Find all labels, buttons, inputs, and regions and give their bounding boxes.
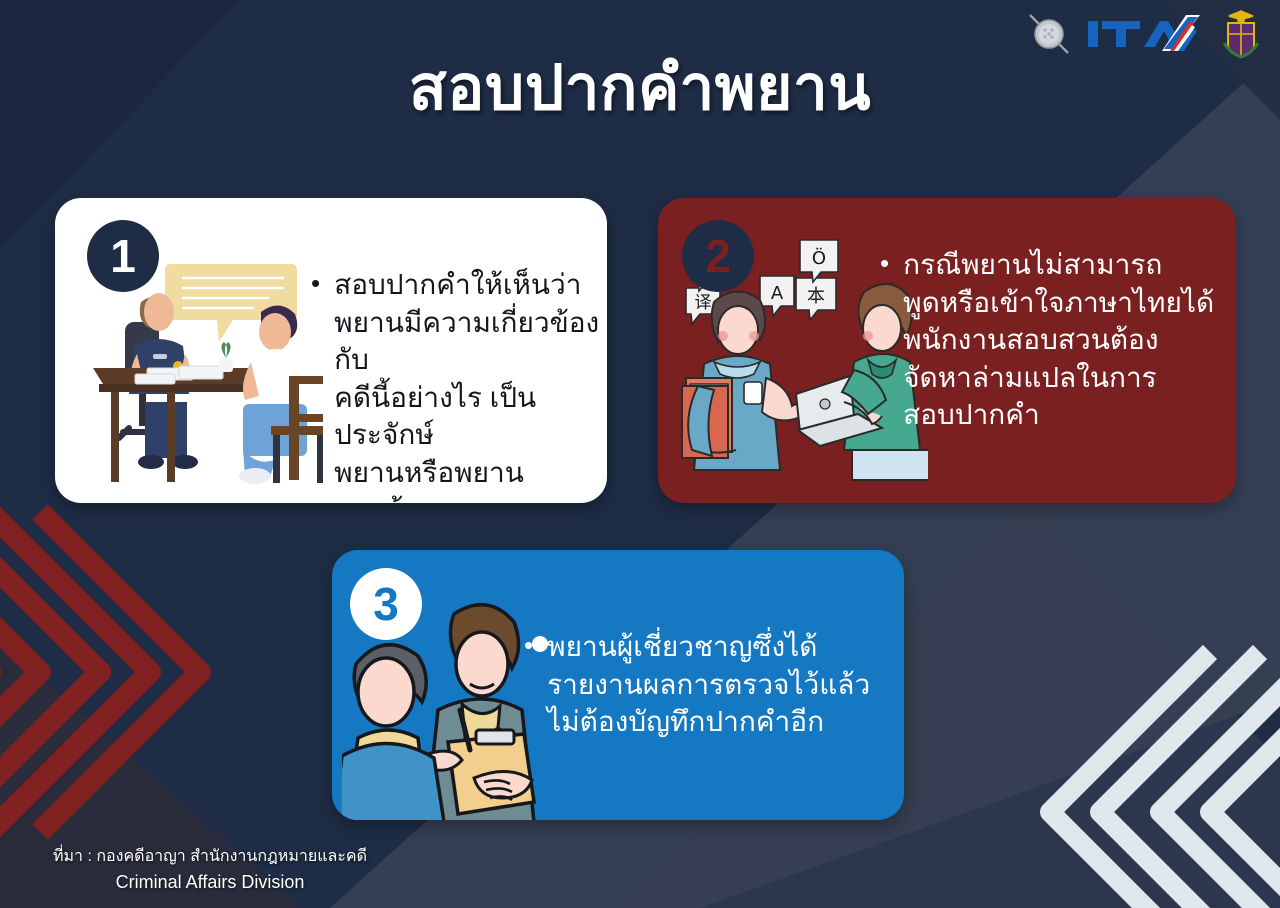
card-2-body-text: กรณีพยานไม่สามารถ พูดหรือเข้าใจภาษาไทยได…	[903, 246, 1214, 434]
svg-text:Ö: Ö	[812, 247, 826, 269]
source-line-english: Criminal Affairs Division	[0, 869, 420, 896]
card-1-bullet-icon: •	[311, 266, 320, 300]
source-footer: ที่มา : กองคดีอาญา สำนักงานกฎหมายและคดี …	[0, 845, 420, 896]
card-2-text-block: • กรณีพยานไม่สามารถ พูดหรือเข้าใจภาษาไทย…	[880, 246, 1225, 434]
card-1-body-text: สอบปากคำให้เห็นว่า พยานมีความเกี่ยวข้องก…	[334, 266, 601, 503]
card-3-body-text: พยานผู้เชี่ยวชาญซึ่งได้ รายงานผลการตรวจไ…	[547, 628, 870, 741]
card-3-text-block: • พยานผู้เชี่ยวชาญซึ่งได้ รายงานผลการตรว…	[524, 628, 884, 741]
card-1-number-badge: 1	[87, 220, 159, 292]
card-2-number-badge: 2	[682, 220, 754, 292]
mace-emblem-icon	[1024, 9, 1074, 59]
card-1-text-block: • สอบปากคำให้เห็นว่า พยานมีความเกี่ยวข้อ…	[311, 266, 601, 503]
source-line-thai: ที่มา : กองคดีอาญา สำนักงานกฎหมายและคดี	[0, 845, 420, 869]
card-3-number-badge: 3	[350, 568, 422, 640]
logo-bar	[1024, 8, 1262, 60]
svg-text:本: 本	[807, 286, 825, 307]
royal-garuda-emblem-icon	[1220, 9, 1262, 59]
card-3: 3 • พยานผู้เชี่ยวชาญซึ่งได้ รายงานผลการต…	[332, 550, 904, 820]
card-2-bullet-icon: •	[880, 246, 889, 280]
ita-logo	[1088, 11, 1206, 57]
card-3-bullet-icon: •	[524, 628, 533, 662]
svg-text:译: 译	[695, 293, 712, 313]
card-1: 1 • สอบปากคำให้เห็นว่า พยานมีความเกี่ยวข…	[55, 198, 607, 503]
card-2: 译 한 A 本 Ö	[658, 198, 1236, 503]
slide-title: สอบปากคำพยาน	[0, 56, 1280, 121]
svg-text:A: A	[771, 283, 784, 304]
